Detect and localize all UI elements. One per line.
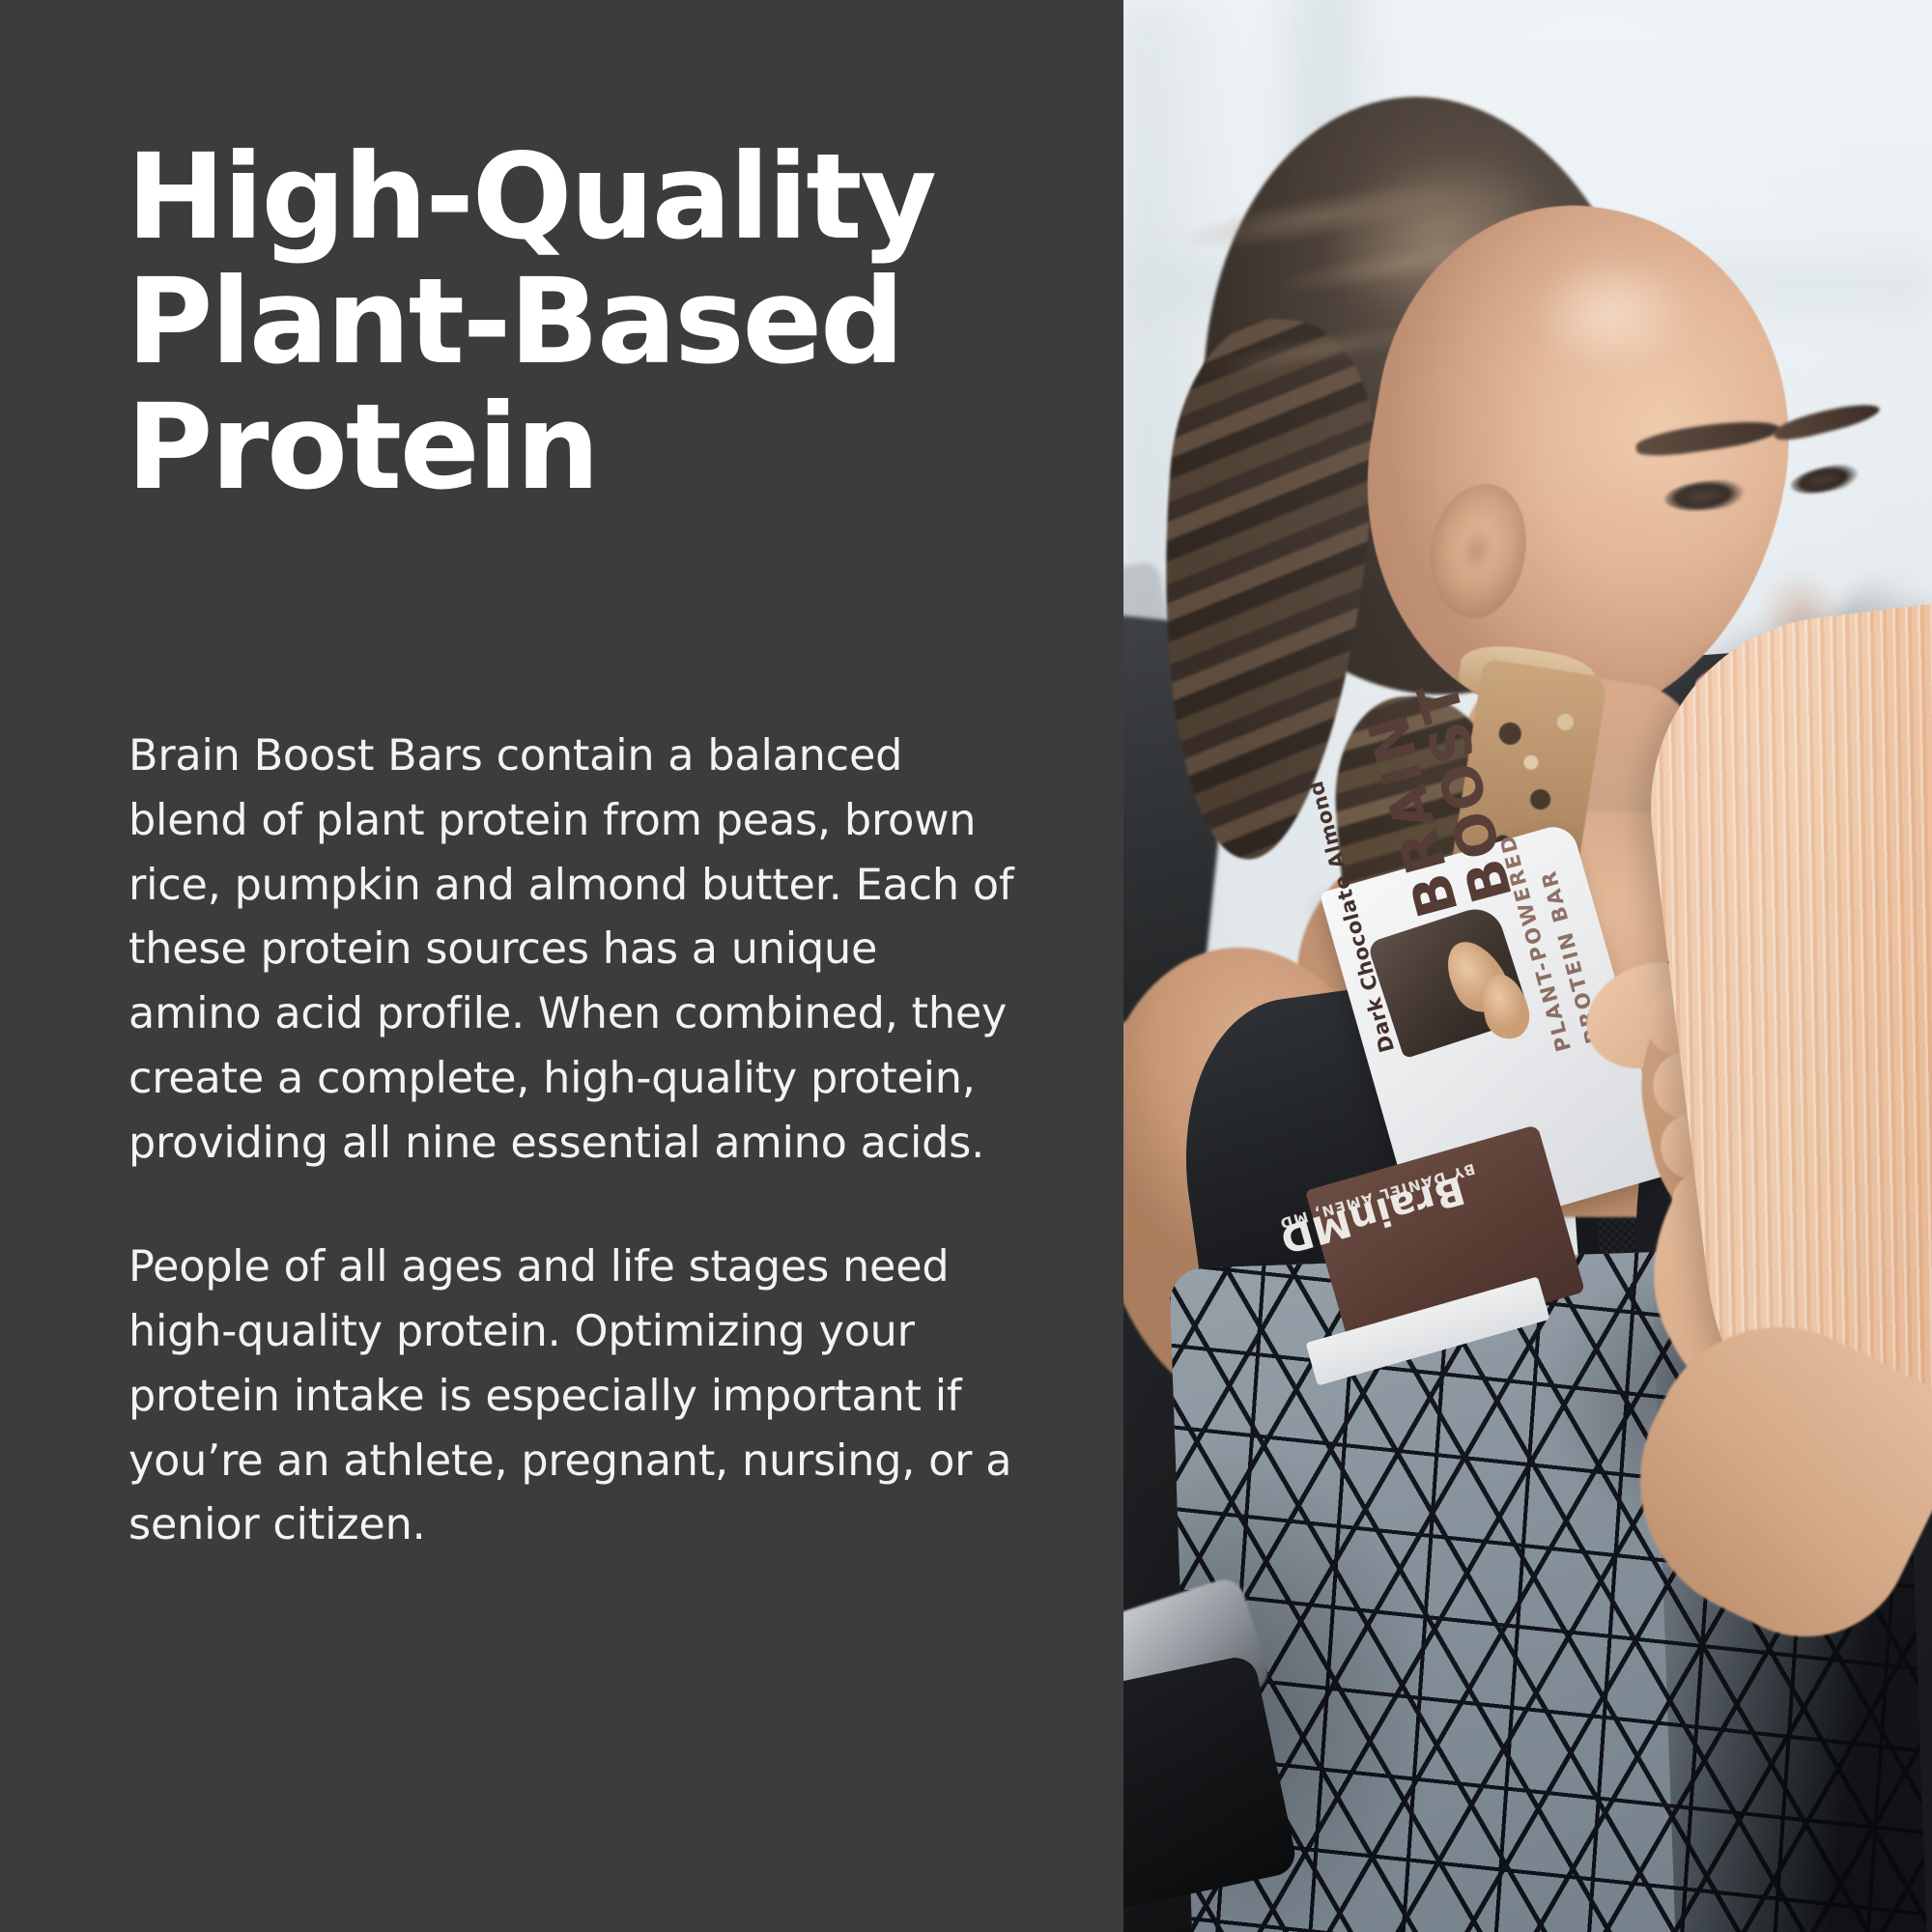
forehead-highlight	[1500, 232, 1722, 396]
lifestyle-photo: Dark Chocolate Almond BRAIN BOOST PLANT-…	[1123, 0, 1932, 1932]
text-panel: High-Quality Plant-Based Protein Brain B…	[0, 0, 1123, 1932]
poster-root: High-Quality Plant-Based Protein Brain B…	[0, 0, 1932, 1932]
cheek-blush	[1510, 454, 1713, 628]
paragraph-who-needs-protein: People of all ages and life stages need …	[128, 1236, 1017, 1558]
body-copy: Brain Boost Bars contain a balanced blen…	[128, 724, 1027, 1558]
page-title: High-Quality Plant-Based Protein	[127, 135, 977, 510]
paragraph-protein-blend: Brain Boost Bars contain a balanced blen…	[128, 724, 1017, 1176]
photo-panel: Dark Chocolate Almond BRAIN BOOST PLANT-…	[1123, 0, 1932, 1932]
